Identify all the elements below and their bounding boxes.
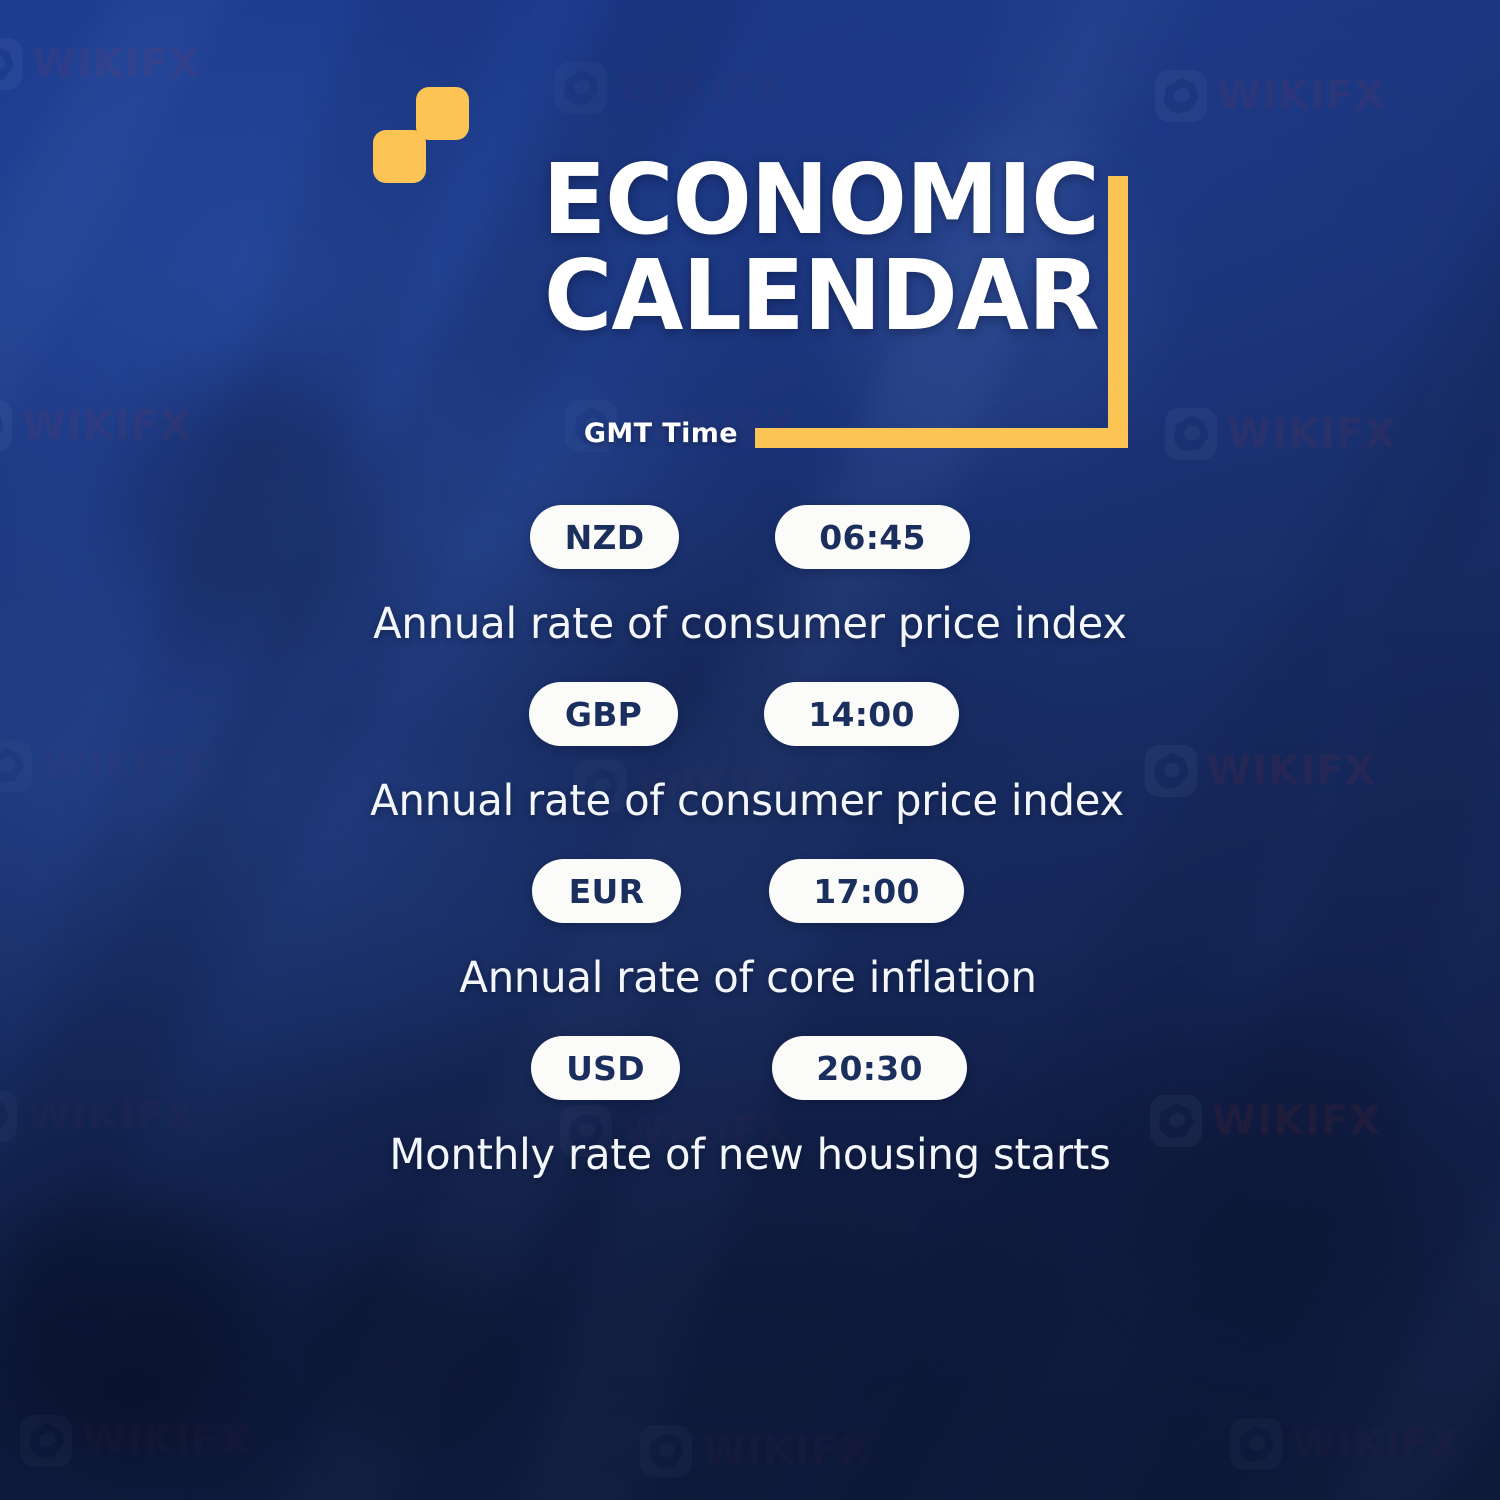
currency-badge[interactable]: USD <box>531 1036 680 1100</box>
wikifx-eagle-icon <box>1230 1418 1282 1470</box>
wikifx-eagle-icon <box>555 62 607 114</box>
time-badge[interactable]: 06:45 <box>775 505 970 569</box>
wikifx-eagle-icon <box>20 1415 72 1467</box>
event-row: GBP 14:00 Annual rate of consumer price … <box>0 682 1500 826</box>
watermark: WIKIFX <box>20 1415 251 1467</box>
watermark: WIKIFX <box>640 1425 871 1477</box>
watermark-label: WIKIFX <box>32 41 201 87</box>
watermark-label: WIKIFX <box>1217 73 1386 119</box>
page-title-line-2: CALENDAR <box>60 248 1099 344</box>
event-description: Annual rate of consumer price index <box>23 776 1478 826</box>
timezone-label: GMT Time <box>0 418 1500 449</box>
event-list: NZD 06:45 Annual rate of consumer price … <box>0 505 1500 1180</box>
currency-badge[interactable]: EUR <box>532 859 681 923</box>
time-badge[interactable]: 17:00 <box>769 859 964 923</box>
event-row: EUR 17:00 Annual rate of core inflation <box>0 859 1500 1003</box>
economic-calendar-poster: WIKIFX WIKIFX WIKIFX WIKIFX WIKIFX WIKIF… <box>0 0 1500 1500</box>
time-badge[interactable]: 14:00 <box>764 682 959 746</box>
watermark-label: WIKIFX <box>617 65 786 111</box>
event-description: Annual rate of consumer price index <box>23 599 1478 649</box>
watermark: WIKIFX <box>0 38 201 90</box>
event-row: USD 20:30 Monthly rate of new housing st… <box>0 1036 1500 1180</box>
currency-badge[interactable]: GBP <box>529 682 678 746</box>
wikifx-eagle-icon <box>640 1425 692 1477</box>
wikifx-eagle-icon <box>1155 70 1207 122</box>
page-title: ECONOMIC CALENDAR <box>60 152 1500 344</box>
event-badges: EUR 17:00 <box>0 859 1500 923</box>
wikifx-eagle-icon <box>0 38 22 90</box>
watermark-label: WIKIFX <box>702 1428 871 1474</box>
watermark: WIKIFX <box>1155 70 1386 122</box>
watermark: WIKIFX <box>1230 1418 1461 1470</box>
logo-square-top <box>416 87 469 140</box>
event-row: NZD 06:45 Annual rate of consumer price … <box>0 505 1500 649</box>
event-description: Annual rate of core inflation <box>23 953 1478 1003</box>
watermark-label: WIKIFX <box>82 1418 251 1464</box>
event-badges: NZD 06:45 <box>0 505 1500 569</box>
currency-badge[interactable]: NZD <box>530 505 679 569</box>
page-title-line-1: ECONOMIC <box>60 152 1099 248</box>
event-badges: GBP 14:00 <box>0 682 1500 746</box>
time-badge[interactable]: 20:30 <box>772 1036 967 1100</box>
event-badges: USD 20:30 <box>0 1036 1500 1100</box>
watermark: WIKIFX <box>555 62 786 114</box>
event-description: Monthly rate of new housing starts <box>23 1130 1478 1180</box>
watermark-label: WIKIFX <box>1292 1421 1461 1467</box>
